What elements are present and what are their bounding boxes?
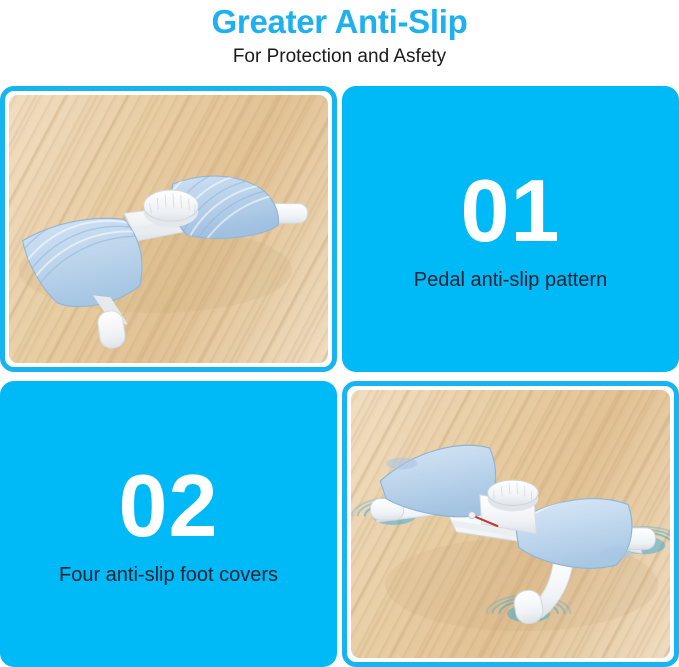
ripple-indicator-left xyxy=(352,498,436,525)
footrest-angled-view-illustration xyxy=(351,390,670,658)
anti-slip-ridges-left xyxy=(351,415,534,573)
anti-slip-ridges-left xyxy=(9,185,171,358)
feature-number-02: 02 xyxy=(119,460,219,552)
foot-cover xyxy=(371,499,404,520)
feature-caption-02: Four anti-slip foot covers xyxy=(59,562,278,588)
page-title: Greater Anti-Slip xyxy=(212,2,468,42)
feature-caption-01: Pedal anti-slip pattern xyxy=(414,267,607,293)
footrest-top-view-illustration xyxy=(9,95,328,363)
product-photo-02 xyxy=(342,381,679,667)
feature-grid: 01 Pedal anti-slip pattern 02 Four anti-… xyxy=(0,86,679,666)
anti-slip-ridges-right xyxy=(140,135,315,297)
feature-card-01: 01 Pedal anti-slip pattern xyxy=(342,86,679,372)
feature-number-01: 01 xyxy=(461,165,561,257)
feature-row-01: 01 Pedal anti-slip pattern xyxy=(0,86,679,372)
tension-knob xyxy=(488,480,539,505)
ripple-indicator-right xyxy=(602,527,670,554)
product-photo-01 xyxy=(0,86,337,372)
ripple-indicator-front xyxy=(487,595,571,622)
header: Greater Anti-Slip For Protection and Asf… xyxy=(0,0,679,86)
tension-knob xyxy=(144,190,199,221)
foot-cover xyxy=(96,309,126,349)
wood-floor-background xyxy=(9,95,328,363)
wood-floor-background xyxy=(351,390,670,658)
anti-slip-ridges-right xyxy=(477,467,670,624)
foot-cover xyxy=(620,528,655,549)
page-subtitle: For Protection and Asfety xyxy=(233,42,446,72)
foot-cover xyxy=(512,588,545,625)
feature-row-02: 02 Four anti-slip foot covers xyxy=(0,381,679,667)
feature-card-02: 02 Four anti-slip foot covers xyxy=(0,381,337,667)
